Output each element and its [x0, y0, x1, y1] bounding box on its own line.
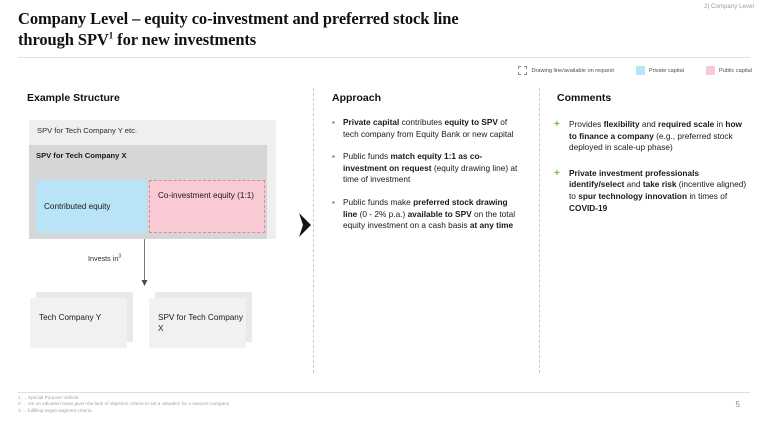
legend: Drawing line/available on request Privat…	[518, 66, 752, 75]
page-title-line2-post: for new investments	[113, 30, 256, 49]
legend-item-private-capital: Private capital	[636, 66, 684, 75]
spv-inner-label: SPV for Tech Company X	[36, 151, 127, 160]
emphasis-run: Private capital	[343, 117, 399, 127]
down-arrow-icon	[140, 239, 149, 288]
emphasis-run: COVID-19	[569, 203, 607, 213]
text-run: Provides	[569, 119, 604, 129]
column-heading-approach: Approach	[332, 92, 381, 104]
legend-label-drawing-line: Drawing line/available on request	[531, 68, 613, 74]
contributed-equity-label: Contributed equity	[44, 201, 110, 212]
comments-list: +Provides flexibility and required scale…	[554, 119, 750, 228]
text-run: Public funds make	[343, 197, 413, 207]
chevron-right-icon	[297, 212, 313, 238]
text-run: contributes	[399, 117, 444, 127]
approach-bullet-text: Public funds match equity 1:1 as co-inve…	[343, 151, 522, 186]
square-bullet-icon: ▪	[332, 197, 343, 232]
page-number: 5	[736, 400, 740, 409]
text-run: (0 - 2% p.a.)	[357, 209, 407, 219]
legend-label-public-capital: Public capital	[719, 68, 752, 74]
legend-item-public-capital: Public capital	[706, 66, 752, 75]
text-run: and	[624, 179, 642, 189]
tech-company-y-label: Tech Company Y	[30, 298, 127, 348]
comment-text: Private investment professionals identif…	[569, 168, 750, 214]
column-divider-1	[313, 88, 315, 373]
invests-in-text: Invests in	[88, 254, 118, 263]
emphasis-run: take risk	[643, 179, 677, 189]
approach-bullet-item: ▪Private capital contributes equity to S…	[332, 117, 522, 140]
emphasis-run: equity to SPV	[444, 117, 497, 127]
comment-text: Provides flexibility and required scale …	[569, 119, 750, 154]
column-heading-comments: Comments	[557, 92, 611, 104]
tech-company-y-node: Tech Company Y	[30, 292, 133, 348]
invests-in-label: Invests in3	[88, 254, 121, 263]
co-investment-equity-box: Co-investment equity (1:1)	[149, 180, 265, 233]
square-bullet-icon: ▪	[332, 151, 343, 186]
page-title: Company Level – equity co-investment and…	[18, 8, 618, 50]
spv-outer-label: SPV for Tech Company Y etc.	[37, 126, 137, 135]
text-run: and	[640, 119, 658, 129]
spv-tech-company-x-label: SPV for Tech Company X	[149, 298, 246, 348]
title-divider	[18, 57, 750, 58]
approach-bullet-text: Private capital contributes equity to SP…	[343, 117, 522, 140]
public-capital-swatch-icon	[706, 66, 715, 75]
emphasis-run: spur technology innovation	[578, 191, 687, 201]
page-title-line2-pre: through SPV	[18, 30, 109, 49]
text-run: in times of	[687, 191, 727, 201]
dashed-swatch-icon	[518, 66, 527, 75]
square-bullet-icon: ▪	[332, 117, 343, 140]
slide-section-tag: 2| Company Level	[704, 4, 754, 10]
page-title-line1: Company Level – equity co-investment and…	[18, 9, 459, 28]
text-run: Public funds	[343, 151, 391, 161]
footnote-block: 1 … Special Purpose Vehicle2 … not on va…	[18, 395, 538, 414]
invests-in-footnote-marker: 3	[118, 254, 121, 260]
private-capital-swatch-icon	[636, 66, 645, 75]
emphasis-run: at any time	[470, 220, 513, 230]
co-investment-equity-label: Co-investment equity (1:1)	[158, 191, 254, 200]
contributed-equity-box: Contributed equity	[36, 180, 147, 233]
approach-bullet-item: ▪Public funds match equity 1:1 as co-inv…	[332, 151, 522, 186]
emphasis-run: required scale	[658, 119, 714, 129]
approach-bullet-text: Public funds make preferred stock drawin…	[343, 197, 522, 232]
footer-divider	[18, 392, 750, 393]
footnote-line: 3 … fulfilling target segment criteria	[18, 408, 538, 414]
comment-item: +Private investment professionals identi…	[554, 168, 750, 214]
spv-tech-company-x-node: SPV for Tech Company X	[149, 292, 252, 348]
comment-item: +Provides flexibility and required scale…	[554, 119, 750, 154]
legend-label-private-capital: Private capital	[649, 68, 684, 74]
column-divider-2	[539, 88, 541, 373]
emphasis-run: available to SPV	[408, 209, 472, 219]
text-run: in	[714, 119, 725, 129]
emphasis-run: flexibility	[604, 119, 640, 129]
approach-bullet-list: ▪Private capital contributes equity to S…	[332, 117, 522, 243]
plus-icon: +	[554, 119, 569, 154]
legend-item-drawing-line: Drawing line/available on request	[518, 66, 613, 75]
slide-canvas: 2| Company Level Company Level – equity …	[0, 0, 768, 424]
plus-icon: +	[554, 168, 569, 214]
column-heading-example-structure: Example Structure	[27, 92, 120, 104]
approach-bullet-item: ▪Public funds make preferred stock drawi…	[332, 197, 522, 232]
